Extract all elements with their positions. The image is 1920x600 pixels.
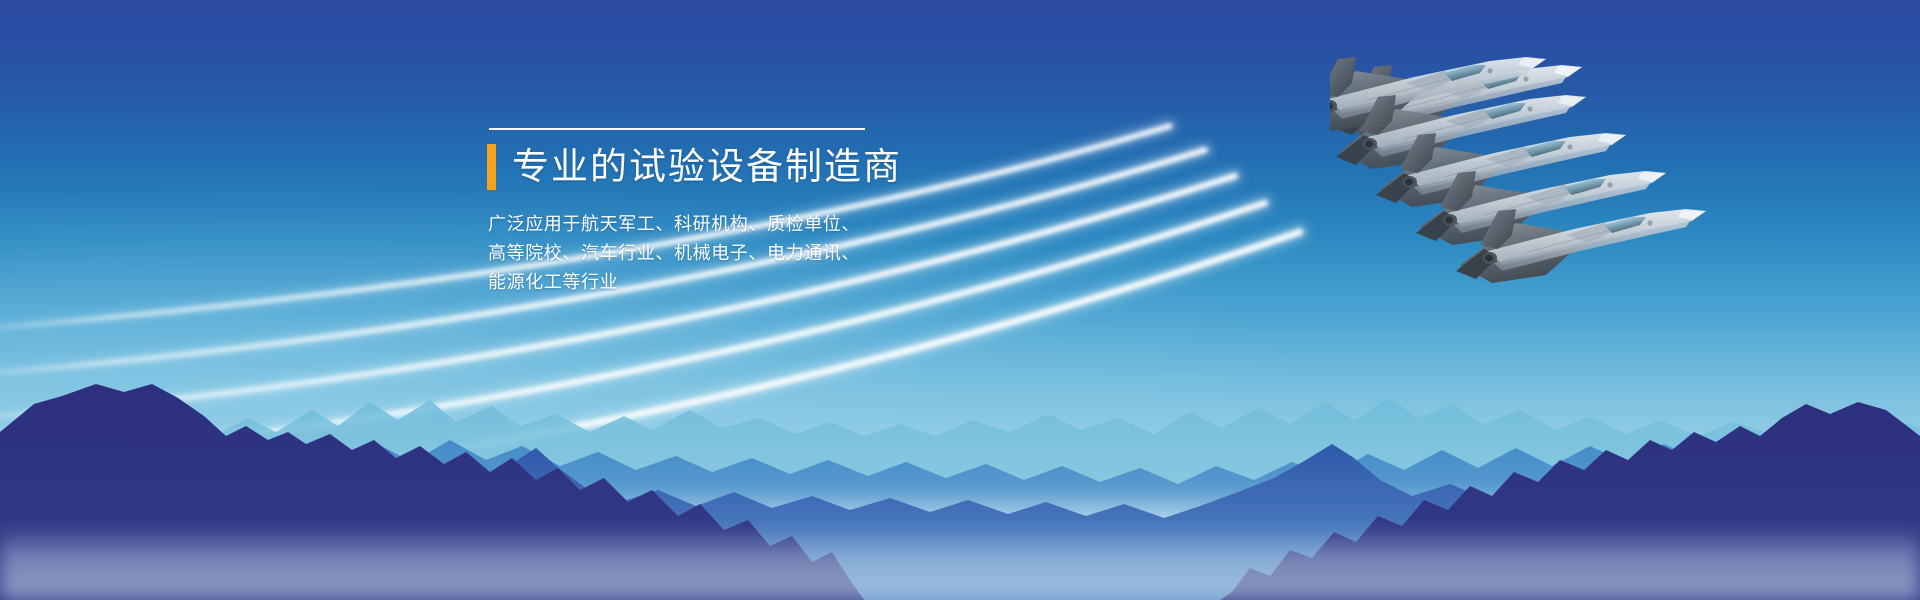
mountain-range-silhouettes bbox=[0, 340, 1920, 600]
orange-accent-bar bbox=[487, 144, 496, 190]
subtitle-line-1: 广泛应用于航天军工、科研机构、质检单位、 bbox=[488, 210, 1127, 239]
subtitle-line-2: 高等院校、汽车行业、机械电子、电力通讯、 bbox=[488, 239, 1127, 268]
headline-top-rule bbox=[489, 128, 865, 130]
subtitle-line-3: 能源化工等行业 bbox=[488, 268, 1127, 297]
hero-copy-block: 专业的试验设备制造商 广泛应用于航天军工、科研机构、质检单位、 高等院校、汽车行… bbox=[487, 128, 1127, 297]
page-title: 专业的试验设备制造商 bbox=[512, 144, 902, 190]
subtitle-block: 广泛应用于航天军工、科研机构、质检单位、 高等院校、汽车行业、机械电子、电力通讯… bbox=[488, 210, 1127, 297]
hero-banner: 专业的试验设备制造商 广泛应用于航天军工、科研机构、质检单位、 高等院校、汽车行… bbox=[0, 0, 1920, 600]
headline-row: 专业的试验设备制造商 bbox=[487, 144, 1127, 190]
fighter-jet-formation bbox=[1330, 35, 1850, 325]
